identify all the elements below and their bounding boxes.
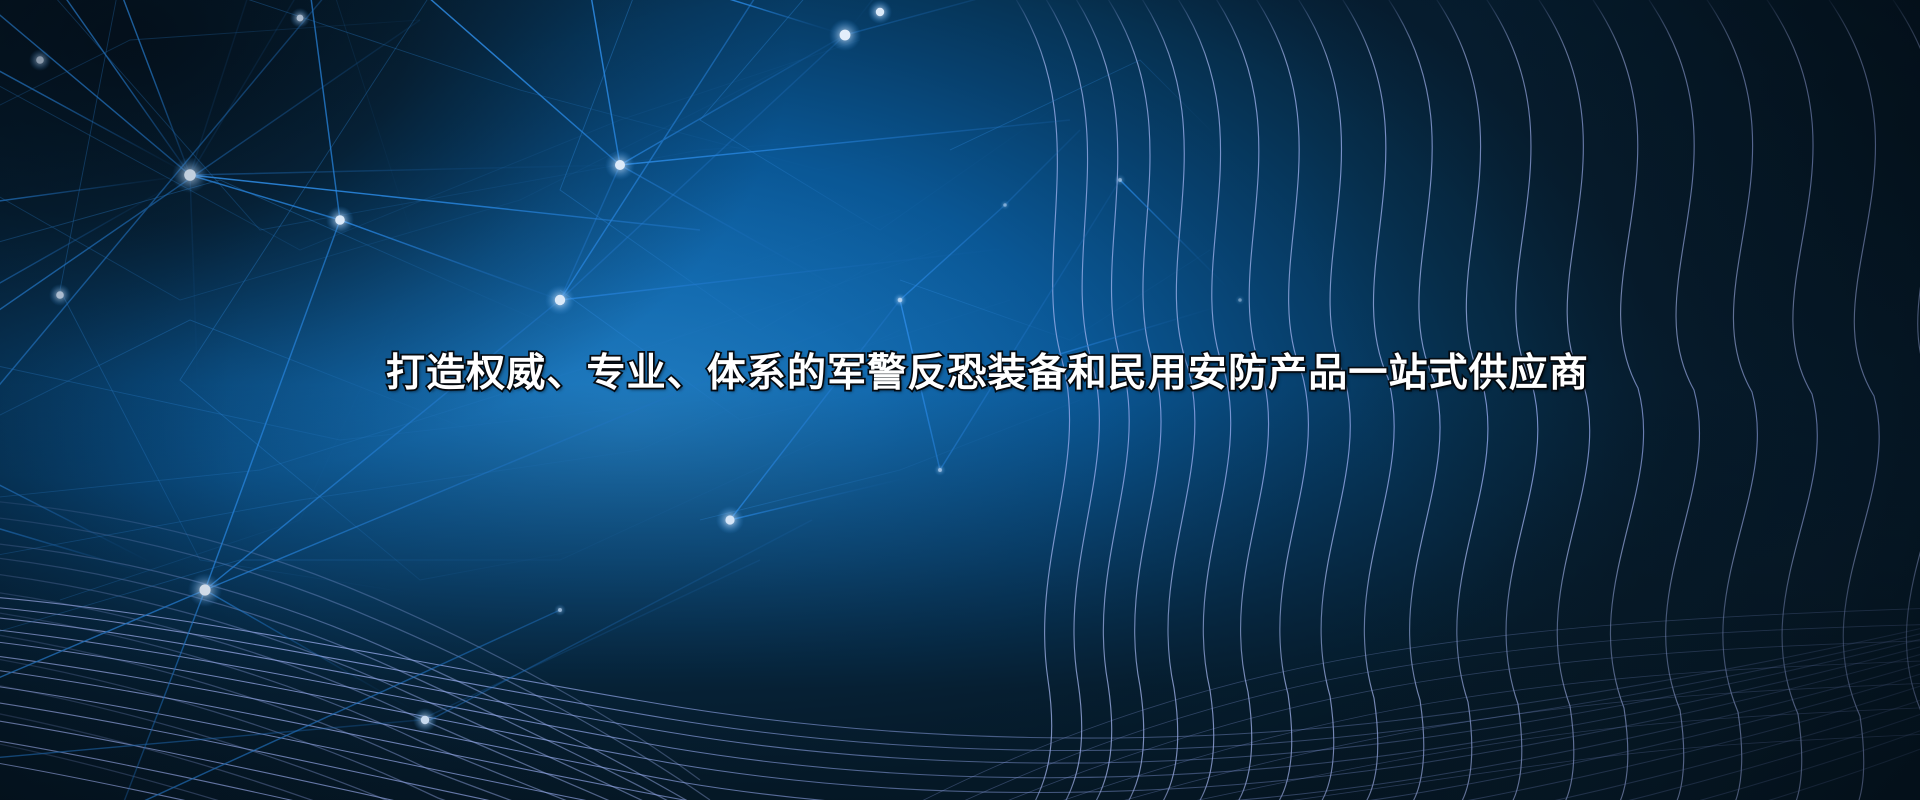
banner-headline: 打造权威、专业、体系的军警反恐装备和民用安防产品一站式供应商 (386, 354, 1589, 393)
hero-banner: 打造权威、专业、体系的军警反恐装备和民用安防产品一站式供应商 (0, 0, 1920, 800)
background-vignette (0, 0, 1920, 800)
headline-container: 打造权威、专业、体系的军警反恐装备和民用安防产品一站式供应商 (0, 348, 1920, 398)
